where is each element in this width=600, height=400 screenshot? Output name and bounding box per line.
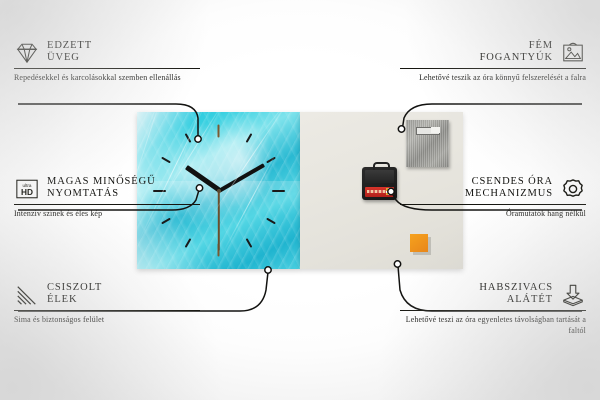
callout-description: Intenzív színek és éles kép [14,209,200,220]
divider [14,204,200,205]
callout-title: HABSZIVACS [479,282,553,294]
callout-foam-backing: HABSZIVACS ALÁTÉT Lehetővé teszi az óra … [400,282,586,336]
callout-title-2: ÜVEG [47,52,92,64]
ultra-hd-icon: ultra HD [14,177,40,201]
infographic-canvas: EDZETT ÜVEG Repedésekkel és karcolásokka… [0,0,600,400]
battery [365,187,394,197]
callout-tempered-glass: EDZETT ÜVEG Repedésekkel és karcolásokka… [14,40,200,84]
picture-frame-hanger-icon [560,41,586,65]
callout-high-quality-print: ultra HD MAGAS MINŐSÉGŰ NYOMTATÁS Intenz… [14,176,200,220]
movement-body [365,170,394,183]
callout-metal-handles: FÉM FOGANTYÚK Lehetővé teszik az óra kön… [400,40,586,84]
callout-description: Sima és biztonságos felület [14,315,200,326]
second-hand [218,190,220,250]
callout-title-2: ALÁTÉT [479,294,553,306]
hanger-keyhole-slot [416,127,440,135]
divider [14,310,200,311]
arrow-onto-pad-icon [560,283,586,307]
divider [400,310,586,311]
clock-center-cap [217,189,221,193]
clock-tick [218,125,220,138]
svg-text:HD: HD [21,187,33,197]
callout-title-2: NYOMTATÁS [47,188,156,200]
battery-plus-terminal [386,188,392,195]
callout-title: CSISZOLT [47,282,102,294]
gear-icon [560,177,586,201]
callout-title-2: FOGANTYÚK [480,52,553,64]
foam-spacer-pad [410,234,428,252]
callout-title-2: MECHANIZMUS [465,188,553,200]
callout-title: FÉM [480,40,553,52]
callout-title: MAGAS MINŐSÉGŰ [47,176,156,188]
callout-description: Repedésekkel és karcolásokkal szemben el… [14,73,200,84]
callout-title-2: ÉLEK [47,294,102,306]
clock-tick [272,190,285,192]
divider [400,204,586,205]
diamond-icon [14,41,40,65]
callout-silent-movement: CSENDES ÓRA MECHANIZMUS Óramutatók hang … [400,176,586,220]
callout-polished-edges: CSISZOLT ÉLEK Sima és biztonságos felüle… [14,282,200,326]
battery-label [367,190,386,193]
callout-title: EDZETT [47,40,92,52]
callout-description: Lehetővé teszik az óra könnyű felszerelé… [400,73,586,84]
callout-description: Óramutatók hang nélkül [400,209,586,220]
divider [14,68,200,69]
divider [400,68,586,69]
polished-edges-icon [14,283,40,307]
metal-hanger-plate [406,120,449,167]
clock-movement [362,167,397,200]
callout-title: CSENDES ÓRA [465,176,553,188]
callout-description: Lehetővé teszi az óra egyenletes távolsá… [400,315,586,336]
